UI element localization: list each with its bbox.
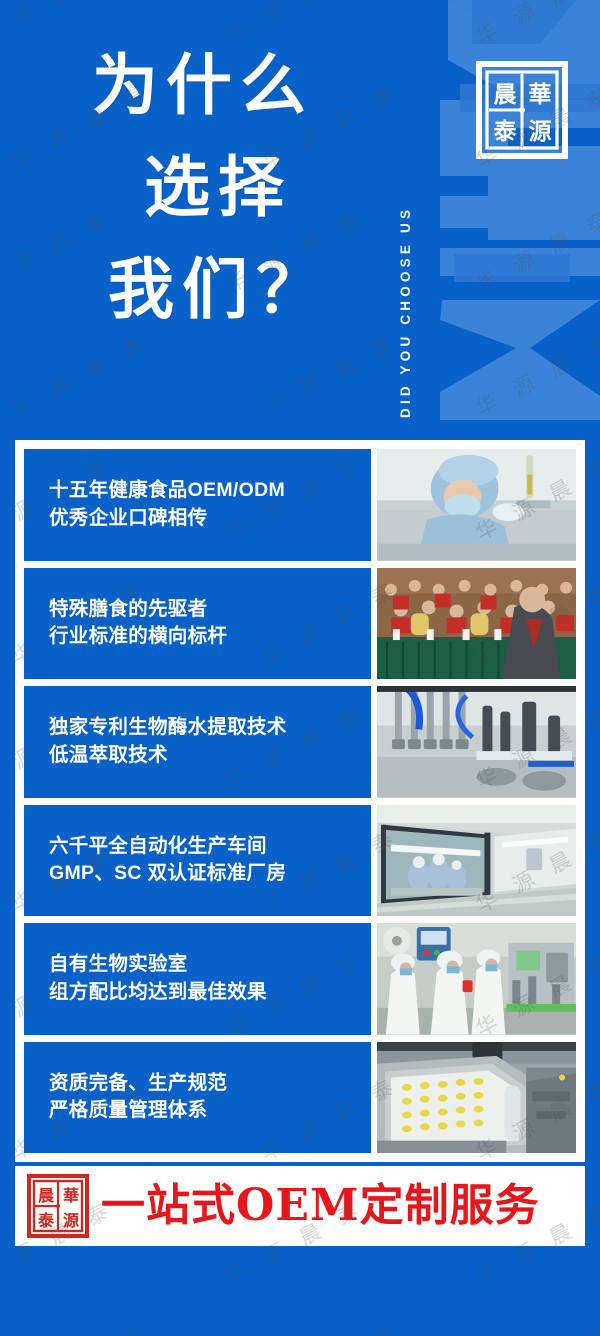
feature-photo-conference <box>377 568 576 680</box>
svg-text:華: 華 <box>63 1186 79 1205</box>
feature-photo-cleanroom <box>377 805 576 917</box>
feature-photo-packaging-line <box>377 923 576 1035</box>
watermark-text: 华 源 晨 泰 <box>420 312 600 436</box>
company-seal-icon: 晨 華 泰 源 <box>476 60 568 160</box>
svg-text:華: 華 <box>529 81 552 108</box>
feature-text-block: 自有生物实验室 组方配比均达到最佳效果 <box>24 923 371 1035</box>
svg-text:源: 源 <box>529 118 552 145</box>
watermark-text: 华 源 晨 泰 <box>420 0 600 64</box>
feature-text-block: 资质完备、生产规范 严格质量管理体系 <box>24 1042 371 1154</box>
headline-line-1: 为什么 <box>92 52 392 118</box>
feature-line: 资质完备、生产规范 <box>49 1070 363 1098</box>
watermark-text: 华 源 晨 泰 <box>0 1304 170 1336</box>
feature-line: 行业标准的横向标杆 <box>49 623 363 651</box>
watermark-text: 华 源 晨 泰 <box>170 1304 420 1336</box>
headline-line-3: 我们？ <box>108 256 392 322</box>
feature-line: 特殊膳食的先驱者 <box>49 596 363 624</box>
feature-line: 十五年健康食品OEM/ODM <box>49 477 363 505</box>
svg-text:泰: 泰 <box>37 1211 55 1230</box>
svg-text:晨: 晨 <box>38 1186 55 1205</box>
feature-row: 十五年健康食品OEM/ODM 优秀企业口碑相传 <box>24 449 576 561</box>
feature-line: 独家专利生物酶水提取技术 <box>49 714 363 742</box>
svg-text:晨: 晨 <box>494 81 518 108</box>
feature-line: 组方配比均达到最佳效果 <box>49 979 363 1007</box>
watermark-text: 华 源 晨 泰 <box>420 188 600 312</box>
feature-row: 自有生物实验室 组方配比均达到最佳效果 <box>24 923 576 1035</box>
headline-line-2: 选择 <box>144 154 392 220</box>
poster-root: DID YOU CHOOSE US 晨 華 泰 源 为什么 选择 我们？ <box>0 0 600 1336</box>
watermark-text: 华 源 晨 泰 <box>420 1304 600 1336</box>
feature-text-block: 十五年健康食品OEM/ODM 优秀企业口碑相传 <box>24 449 371 561</box>
feature-row: 资质完备、生产规范 严格质量管理体系 <box>24 1042 576 1154</box>
feature-row: 独家专利生物酶水提取技术 低温萃取技术 <box>24 686 576 798</box>
cta-banner: 晨 華 泰 源 一站式OEM定制服务 <box>15 1166 585 1246</box>
feature-row: 六千平全自动化生产车间 GMP、SC 双认证标准厂房 <box>24 805 576 917</box>
features-list: 十五年健康食品OEM/ODM 优秀企业口碑相传 <box>24 449 576 1153</box>
watermark-text: 华 源 晨 泰 <box>170 312 420 436</box>
feature-text-block: 独家专利生物酶水提取技术 低温萃取技术 <box>24 686 371 798</box>
svg-text:泰: 泰 <box>493 118 518 145</box>
feature-photo-blister-packing <box>377 1042 576 1154</box>
feature-row: 特殊膳食的先驱者 行业标准的横向标杆 <box>24 568 576 680</box>
feature-line: 自有生物实验室 <box>49 951 363 979</box>
feature-line: 六千平全自动化生产车间 <box>49 833 363 861</box>
feature-line: 严格质量管理体系 <box>49 1097 363 1125</box>
watermark-text: 华 源 晨 泰 <box>0 312 170 436</box>
feature-line: 低温萃取技术 <box>49 742 363 770</box>
feature-line: GMP、SC 双认证标准厂房 <box>49 860 363 888</box>
feature-photo-filling-machine <box>377 686 576 798</box>
svg-text:源: 源 <box>63 1211 79 1230</box>
feature-line: 优秀企业口碑相传 <box>49 505 363 533</box>
page-title: 为什么 选择 我们？ <box>92 52 392 322</box>
cta-banner-text: 一站式OEM定制服务 <box>101 1184 540 1228</box>
company-seal-red-icon: 晨 華 泰 源 <box>27 1173 89 1239</box>
features-frame: 十五年健康食品OEM/ODM 优秀企业口碑相传 <box>15 440 585 1162</box>
feature-photo-lab-technician <box>377 449 576 561</box>
vertical-caption: DID YOU CHOOSE US <box>398 18 424 418</box>
feature-text-block: 特殊膳食的先驱者 行业标准的横向标杆 <box>24 568 371 680</box>
feature-text-block: 六千平全自动化生产车间 GMP、SC 双认证标准厂房 <box>24 805 371 917</box>
